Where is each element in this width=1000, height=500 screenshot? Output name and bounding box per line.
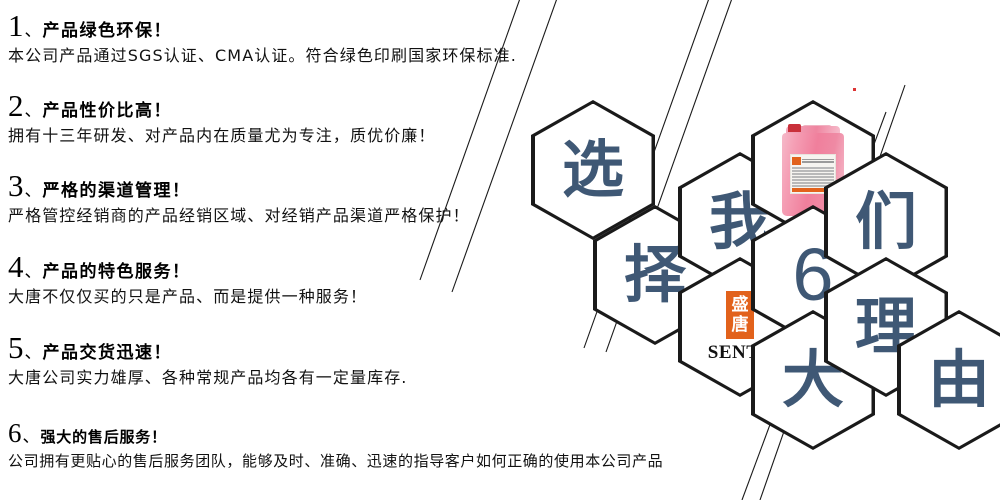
feature-description: 本公司产品通过SGS认证、CMA认证。符合绿色印刷国家环保标准. — [8, 46, 517, 66]
feature-number: 5 — [8, 332, 24, 363]
feature-list: 1 、 产品绿色环保！ 本公司产品通过SGS认证、CMA认证。符合绿色印刷国家环… — [0, 0, 660, 500]
label-title-lines — [802, 159, 834, 163]
feature-item-1: 1 、 产品绿色环保！ 本公司产品通过SGS认证、CMA认证。符合绿色印刷国家环… — [8, 10, 517, 66]
label-header — [792, 156, 834, 165]
hex-character: 选 — [562, 139, 624, 201]
feature-item-3: 3 、 严格的渠道管理！ 严格管控经销商的产品经销区域、对经销产品渠道严格保护！ — [8, 170, 470, 226]
poster-canvas: 1 、 产品绿色环保！ 本公司产品通过SGS认证、CMA认证。符合绿色印刷国家环… — [0, 0, 1000, 500]
feature-item-2: 2 、 产品性价比高！ 拥有十三年研发、对产品内在质量尤为专注，质优价廉！ — [8, 90, 436, 146]
hex-character: 择 — [624, 244, 686, 306]
feature-heading: 1 、 产品绿色环保！ — [8, 10, 517, 41]
hex-character: 们 — [855, 191, 917, 253]
feature-title: 强大的售后服务！ — [41, 430, 167, 445]
feature-heading: 3 、 严格的渠道管理！ — [8, 170, 470, 201]
feature-heading: 2 、 产品性价比高！ — [8, 90, 436, 121]
logo-mark-icon: 盛 唐 — [726, 291, 754, 339]
feature-separator: 、 — [25, 264, 42, 281]
label-brand-block — [792, 157, 801, 165]
feature-number: 2 — [8, 90, 24, 121]
can-cap-icon — [788, 124, 801, 132]
feature-separator: 、 — [25, 183, 42, 200]
feature-item-5: 5 、 产品交货迅速！ 大唐公司实力雄厚、各种常规产品均各有一定量库存. — [8, 332, 408, 388]
feature-title: 严格的渠道管理！ — [43, 183, 191, 200]
feature-separator: 、 — [25, 345, 42, 362]
feature-item-4: 4 、 产品的特色服务！ 大唐不仅仅买的只是产品、而是提供一种服务！ — [8, 251, 367, 307]
feature-description: 大唐不仅仅买的只是产品、而是提供一种服务！ — [8, 287, 367, 307]
feature-description: 大唐公司实力雄厚、各种常规产品均各有一定量库存. — [8, 368, 408, 388]
artifact-dot — [853, 88, 856, 91]
feature-title: 产品绿色环保！ — [43, 23, 173, 40]
feature-number: 3 — [8, 170, 24, 201]
logo-mark-line1: 盛 — [731, 295, 748, 315]
feature-title: 产品性价比高！ — [43, 103, 173, 120]
feature-number: 6 — [8, 420, 22, 447]
logo-mark-line2: 唐 — [731, 315, 748, 335]
feature-title: 产品交货迅速！ — [43, 345, 173, 362]
feature-separator: 、 — [25, 23, 42, 40]
feature-description: 公司拥有更贴心的售后服务团队，能够及时、准确、迅速的指导客户如何正确的使用本公司… — [8, 452, 998, 471]
hex-character: 由 — [928, 349, 990, 411]
feature-heading: 5 、 产品交货迅速！ — [8, 332, 408, 363]
feature-description: 拥有十三年研发、对产品内在质量尤为专注，质优价廉！ — [8, 126, 436, 146]
feature-number: 1 — [8, 10, 24, 41]
feature-separator: 、 — [25, 103, 42, 120]
feature-description: 严格管控经销商的产品经销区域、对经销产品渠道严格保护！ — [8, 206, 470, 226]
feature-separator: 、 — [23, 429, 40, 446]
label-text-lines — [792, 167, 834, 187]
feature-title: 产品的特色服务！ — [43, 264, 191, 281]
feature-heading: 4 、 产品的特色服务！ — [8, 251, 367, 282]
feature-number: 4 — [8, 251, 24, 282]
hex-face: 选 — [535, 104, 652, 237]
